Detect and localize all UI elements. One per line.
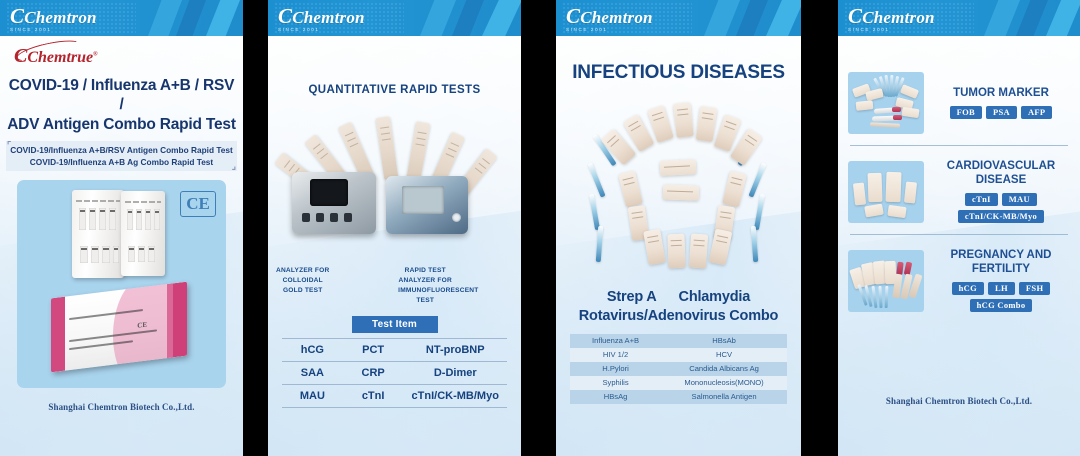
brand-banner: CChemtron SINCE 2001 bbox=[268, 0, 521, 36]
test-cassette bbox=[618, 170, 643, 207]
chemtron-logo: CChemtron SINCE 2001 bbox=[278, 6, 365, 33]
category-title-line1: CARDIOVASCULAR bbox=[932, 160, 1070, 174]
cassette-label bbox=[125, 201, 161, 203]
chemtron-logo: CChemtron SINCE 2001 bbox=[566, 6, 653, 33]
chevron-shape bbox=[984, 0, 1020, 36]
test-cassette bbox=[885, 171, 901, 202]
table-cell: HBsAg bbox=[570, 392, 661, 401]
test-strip bbox=[376, 116, 398, 179]
chemtrue-logo: CChemtrue® bbox=[14, 45, 98, 68]
pregnancy-badges: hCG LH FSH hCG Combo bbox=[932, 282, 1070, 312]
panel-quantitative[interactable]: CChemtron SINCE 2001 QUANTITATIVE RAPID … bbox=[268, 0, 521, 456]
test-cassette bbox=[904, 181, 917, 203]
specimen-tube-red bbox=[892, 107, 901, 112]
immunofluorescent-analyzer bbox=[386, 176, 468, 234]
specimen-tube-red bbox=[893, 115, 902, 120]
tumor-marker-badges: FOB PSA AFP bbox=[932, 106, 1070, 119]
test-cassette bbox=[901, 107, 919, 118]
cassette-window bbox=[80, 246, 88, 263]
badge-afp[interactable]: AFP bbox=[1021, 106, 1052, 119]
cassette-window bbox=[136, 209, 142, 230]
table-row: HIV 1/2 HCV bbox=[570, 348, 787, 362]
panel-infectious[interactable]: CChemtron SINCE 2001 INFECTIOUS DISEASES bbox=[556, 0, 801, 456]
colloidal-gold-analyzer bbox=[292, 172, 376, 234]
cassette-window bbox=[113, 246, 119, 263]
chevron-shape bbox=[736, 0, 768, 36]
test-item-table: hCG PCT NT-proBNP SAA CRP D-Dimer MAU cT… bbox=[282, 338, 507, 408]
logo-initial: C bbox=[566, 4, 580, 28]
swab bbox=[870, 122, 900, 128]
subheading-line1: Strep AChlamydia bbox=[562, 288, 795, 307]
pipette bbox=[589, 194, 600, 230]
logo-tagline: SINCE 2001 bbox=[10, 28, 97, 33]
tumor-marker-info: TUMOR MARKER FOB PSA AFP bbox=[932, 87, 1070, 119]
cassette-window bbox=[91, 246, 99, 263]
logo-word-rest: Chemtron bbox=[580, 8, 652, 27]
table-row: HBsAg Salmonella Antigen bbox=[570, 390, 787, 404]
category-tumor-marker[interactable]: TUMOR MARKER FOB PSA AFP bbox=[838, 72, 1080, 134]
cassette-window bbox=[154, 209, 160, 230]
test-cassette bbox=[121, 191, 165, 276]
analyzer-button bbox=[316, 213, 324, 222]
panel-heading: INFECTIOUS DISEASES bbox=[556, 62, 801, 84]
chevron-shape bbox=[176, 0, 206, 36]
test-cassette bbox=[900, 84, 919, 99]
badge-mau[interactable]: MAU bbox=[1002, 193, 1037, 206]
registered-icon: ® bbox=[93, 52, 97, 58]
subheading-strep: Strep A bbox=[607, 289, 657, 305]
pipette bbox=[748, 162, 766, 197]
table-cell: hCG bbox=[282, 344, 343, 356]
product-photo[interactable]: CE CE bbox=[17, 180, 226, 388]
panel-gap-1 bbox=[243, 0, 268, 456]
pregnancy-info: PREGNANCY AND FERTILITY hCG LH FSH hCG C… bbox=[932, 249, 1070, 312]
panel-subheading: Strep AChlamydia Rotavirus/Adenovirus Co… bbox=[562, 288, 795, 326]
badge-fsh[interactable]: FSH bbox=[1019, 282, 1050, 295]
subheading-chlamydia: Chlamydia bbox=[679, 289, 751, 305]
logo-tagline: SINCE 2001 bbox=[848, 28, 935, 33]
table-cell: D-Dimer bbox=[404, 367, 508, 379]
badge-hcg-combo[interactable]: hCG Combo bbox=[970, 299, 1033, 312]
logo-initial: C bbox=[278, 4, 292, 28]
test-cassette bbox=[643, 229, 666, 265]
chevron-shape bbox=[1046, 0, 1080, 36]
table-cell: Influenza A+B bbox=[570, 336, 661, 345]
company-footer: Shanghai Chemtron Biotech Co.,Ltd. bbox=[838, 396, 1080, 406]
category-title: TUMOR MARKER bbox=[932, 87, 1070, 101]
table-cell: SAA bbox=[282, 367, 343, 379]
logo-initial: C bbox=[10, 4, 24, 28]
logo-tagline: SINCE 2001 bbox=[278, 28, 365, 33]
badge-lh[interactable]: LH bbox=[988, 282, 1015, 295]
logo-word-rest: Chemtron bbox=[24, 8, 96, 27]
panel-categories[interactable]: CChemtron SINCE 2001 bbox=[838, 0, 1080, 456]
section-divider bbox=[850, 234, 1068, 235]
logo-initial: C bbox=[848, 4, 862, 28]
table-row: Influenza A+B HBsAb bbox=[570, 334, 787, 348]
analyzer-screen bbox=[402, 186, 444, 214]
table-cell: HBsAb bbox=[661, 336, 787, 345]
tumor-marker-photo bbox=[848, 72, 924, 134]
test-cassette bbox=[853, 182, 866, 205]
cardiovascular-photo bbox=[848, 161, 924, 223]
test-cassette bbox=[887, 204, 906, 217]
chemtron-logo: CChemtron SINCE 2001 bbox=[10, 6, 97, 33]
chevron-shape bbox=[452, 0, 484, 36]
test-strip bbox=[878, 286, 882, 308]
badge-fob[interactable]: FOB bbox=[950, 106, 982, 119]
table-cell: Mononucleosis(MONO) bbox=[661, 378, 787, 387]
table-cell: cTnI bbox=[343, 390, 404, 402]
chemtron-logo-text: CChemtron bbox=[848, 6, 935, 27]
product-caption-line1: COVID-19/Influenza A+B/RSV Antigen Combo… bbox=[10, 144, 233, 156]
infectious-disease-table: Influenza A+B HBsAb HIV 1/2 HCV H.Pylori… bbox=[570, 334, 787, 404]
chevron-shape bbox=[206, 0, 240, 36]
panel-heading: QUANTITATIVE RAPID TESTS bbox=[268, 84, 521, 96]
analyzer-knob bbox=[452, 213, 461, 222]
chevron-shape bbox=[148, 0, 182, 36]
caption-immunofluorescent: RAPID TEST ANALYZER FOR IMMUNOFLUORESCEN… bbox=[398, 266, 513, 306]
cassette-window bbox=[145, 209, 151, 230]
cardiovascular-info: CARDIOVASCULAR DISEASE cTnI MAU cTnI/CK-… bbox=[932, 160, 1070, 223]
chevron-shape bbox=[420, 0, 456, 36]
badge-psa[interactable]: PSA bbox=[986, 106, 1017, 119]
product-box: CE bbox=[51, 282, 187, 373]
panel-covid[interactable]: CChemtron SINCE 2001 CChemtrue® COVID-19… bbox=[0, 0, 243, 456]
cassette-window bbox=[127, 209, 133, 230]
test-cassette bbox=[689, 233, 708, 268]
corner-bracket-icon: ⌜ bbox=[7, 141, 11, 150]
table-row: Syphilis Mononucleosis(MONO) bbox=[570, 376, 787, 390]
cassette-window bbox=[148, 246, 155, 262]
category-cardiovascular[interactable]: CARDIOVASCULAR DISEASE cTnI MAU cTnI/CK-… bbox=[838, 160, 1080, 223]
section-divider bbox=[850, 145, 1068, 146]
table-cell: Salmonella Antigen bbox=[661, 392, 787, 401]
table-row: hCG PCT NT-proBNP bbox=[282, 338, 507, 361]
table-cell: MAU bbox=[282, 390, 343, 402]
cassette-window bbox=[79, 208, 86, 230]
pipette bbox=[751, 226, 758, 262]
category-title-line1: PREGNANCY AND bbox=[932, 249, 1070, 263]
test-cassette-horizontal bbox=[663, 184, 700, 200]
panel-title-line2: ADV Antigen Combo Rapid Test bbox=[6, 115, 237, 134]
cassette-window bbox=[99, 208, 106, 230]
test-cassette bbox=[72, 190, 124, 278]
test-cassette-horizontal bbox=[660, 159, 697, 176]
table-cell: Syphilis bbox=[570, 378, 661, 387]
cassette-label bbox=[76, 200, 120, 202]
badge-ctni[interactable]: cTnI bbox=[965, 193, 998, 206]
category-title-line1: TUMOR MARKER bbox=[932, 87, 1070, 101]
pregnancy-photo bbox=[848, 250, 924, 312]
table-row: MAU cTnI cTnI/CK-MB/Myo bbox=[282, 384, 507, 408]
category-title-line2: FERTILITY bbox=[932, 263, 1070, 277]
test-strip bbox=[885, 286, 889, 308]
badge-hcg[interactable]: hCG bbox=[952, 282, 984, 295]
cassette-window bbox=[102, 246, 110, 263]
analyzer-photo[interactable] bbox=[268, 98, 521, 264]
infectious-products-photo[interactable] bbox=[556, 88, 801, 288]
brand-banner: CChemtron SINCE 2001 bbox=[838, 0, 1080, 36]
table-cell: H.Pylori bbox=[570, 364, 661, 373]
panel-gap-2 bbox=[521, 0, 556, 456]
logo-tagline: SINCE 2001 bbox=[566, 28, 653, 33]
brand-banner: CChemtron SINCE 2001 bbox=[556, 0, 801, 36]
test-cassette bbox=[696, 106, 718, 142]
chevron-shape bbox=[766, 0, 801, 36]
chemtron-logo-text: CChemtron bbox=[566, 6, 653, 27]
chevron-shape bbox=[1016, 0, 1048, 36]
table-cell: HCV bbox=[661, 350, 787, 359]
chevron-shape bbox=[482, 0, 521, 36]
chemtron-logo-text: CChemtron bbox=[10, 6, 97, 27]
analyzer-screen bbox=[310, 179, 348, 206]
box-side-panel bbox=[51, 297, 65, 373]
category-title: CARDIOVASCULAR DISEASE bbox=[932, 160, 1070, 188]
analyzer-captions: ANALYZER FOR COLLOIDAL GOLD TEST RAPID T… bbox=[272, 266, 517, 306]
subheading-line2: Rotavirus/Adenovirus Combo bbox=[562, 307, 795, 326]
category-title-line2: DISEASE bbox=[932, 174, 1070, 188]
cassette-window bbox=[89, 208, 96, 230]
analyzer-button bbox=[330, 213, 338, 222]
screenshot-stage: CChemtron SINCE 2001 CChemtrue® COVID-19… bbox=[0, 0, 1080, 456]
table-row: H.Pylori Candida Albicans Ag bbox=[570, 362, 787, 376]
table-cell: HIV 1/2 bbox=[570, 350, 661, 359]
pipette bbox=[754, 194, 765, 230]
logo-word-rest: Chemtron bbox=[862, 8, 934, 27]
box-ce-icon: CE bbox=[137, 321, 147, 330]
cassette-window bbox=[138, 246, 145, 262]
brand-banner: CChemtron SINCE 2001 bbox=[0, 0, 243, 36]
analyzer-button bbox=[344, 213, 352, 222]
test-cassette bbox=[722, 170, 747, 207]
table-cell: Candida Albicans Ag bbox=[661, 364, 787, 373]
product-caption-box: ⌜ ⌟ COVID-19/Influenza A+B/RSV Antigen C… bbox=[6, 141, 237, 171]
analyzer-button bbox=[302, 213, 310, 222]
corner-bracket-icon: ⌟ bbox=[232, 162, 236, 171]
panel-title-line1: COVID-19 / Influenza A+B / RSV / bbox=[6, 76, 237, 115]
test-cassette bbox=[673, 102, 693, 138]
category-title: PREGNANCY AND FERTILITY bbox=[932, 249, 1070, 277]
table-row: SAA CRP D-Dimer bbox=[282, 361, 507, 384]
test-cassette bbox=[867, 172, 882, 201]
category-pregnancy[interactable]: PREGNANCY AND FERTILITY hCG LH FSH hCG C… bbox=[838, 249, 1080, 312]
chemtron-logo-text: CChemtron bbox=[278, 6, 365, 27]
chemtron-logo: CChemtron SINCE 2001 bbox=[848, 6, 935, 33]
company-footer: Shanghai Chemtron Biotech Co.,Ltd. bbox=[0, 402, 243, 412]
panel-gap-3 bbox=[801, 0, 838, 456]
cardiovascular-badges: cTnI MAU cTnI/CK-MB/Myo bbox=[932, 193, 1070, 223]
test-item-header: Test Item bbox=[352, 316, 438, 333]
test-cassette bbox=[864, 203, 884, 217]
pipette bbox=[587, 162, 605, 197]
caption-colloidal-gold: ANALYZER FOR COLLOIDAL GOLD TEST bbox=[276, 266, 391, 306]
panel-title: COVID-19 / Influenza A+B / RSV / ADV Ant… bbox=[6, 76, 237, 134]
chevron-shape bbox=[704, 0, 740, 36]
test-cassette bbox=[856, 100, 874, 111]
ce-mark-icon: CE bbox=[180, 191, 216, 217]
badge-ctni-ckmb-myo[interactable]: cTnI/CK-MB/Myo bbox=[958, 210, 1044, 223]
table-cell: CRP bbox=[343, 367, 404, 379]
test-cassette bbox=[667, 234, 685, 269]
pipette bbox=[596, 226, 603, 262]
table-cell: PCT bbox=[343, 344, 404, 356]
table-cell: cTnI/CK-MB/Myo bbox=[404, 390, 508, 402]
logo-word-rest: Chemtron bbox=[292, 8, 364, 27]
cassette-window bbox=[109, 208, 116, 230]
cassette-window bbox=[128, 246, 135, 262]
product-caption-line2: COVID-19/Influenza A+B Ag Combo Rapid Te… bbox=[10, 156, 233, 168]
test-cassette bbox=[709, 229, 733, 266]
table-cell: NT-proBNP bbox=[404, 344, 508, 356]
